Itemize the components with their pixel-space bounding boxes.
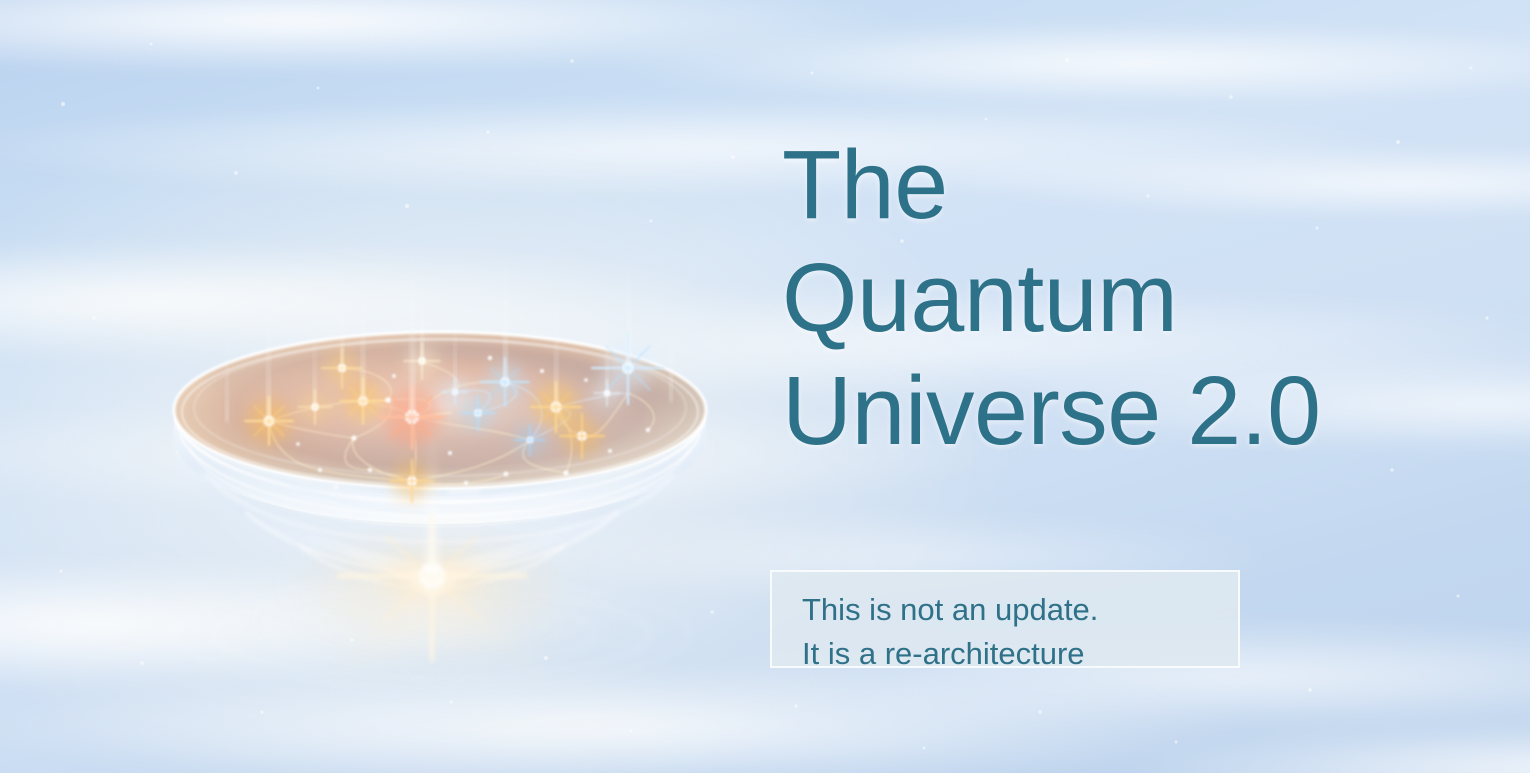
slide-root: The Quantum Universe 2.0 This is not an …: [0, 0, 1530, 773]
callout-line-2: It is a re-architecture: [802, 632, 1238, 676]
page-title: The Quantum Universe 2.0: [782, 128, 1402, 467]
callout-line-1: This is not an update.: [802, 588, 1238, 632]
callout-box: This is not an update. It is a re-archit…: [770, 570, 1240, 668]
